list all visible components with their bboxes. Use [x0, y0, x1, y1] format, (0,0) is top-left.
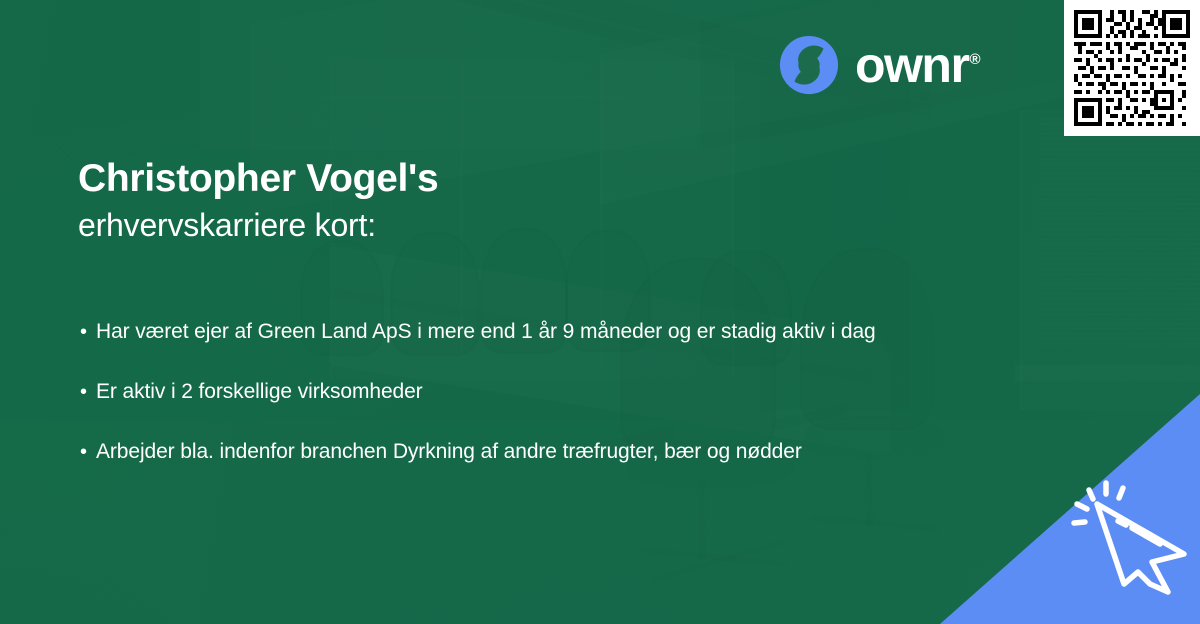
qr-code[interactable]	[1074, 10, 1190, 126]
person-name: Christopher Vogel's	[78, 156, 438, 202]
qr-code-panel[interactable]	[1064, 0, 1200, 136]
list-item-text: Er aktiv i 2 forskellige virksomheder	[96, 375, 423, 409]
brand-name: ownr	[855, 37, 968, 93]
list-item: • Har været ejer af Green Land ApS i mer…	[80, 315, 980, 349]
business-career-card: ownr®	[0, 0, 1200, 624]
career-facts-list: • Har været ejer af Green Land ApS i mer…	[80, 315, 980, 495]
subtitle: erhvervskarriere kort:	[78, 205, 438, 247]
registered-mark: ®	[969, 51, 980, 68]
ownr-swirl-logo-icon	[778, 34, 840, 96]
click-cursor-icon	[1066, 476, 1190, 596]
list-item-text: Har været ejer af Green Land ApS i mere …	[96, 315, 876, 349]
list-item-text: Arbejder bla. indenfor branchen Dyrkning…	[96, 435, 802, 469]
bullet-marker-icon: •	[80, 315, 96, 349]
brand-wordmark: ownr®	[855, 40, 981, 90]
bullet-marker-icon: •	[80, 435, 96, 469]
bullet-marker-icon: •	[80, 375, 96, 409]
list-item: • Er aktiv i 2 forskellige virksomheder	[80, 375, 980, 409]
list-item: • Arbejder bla. indenfor branchen Dyrkni…	[80, 435, 980, 469]
brand-logo: ownr®	[778, 34, 981, 96]
green-gradient-overlay	[0, 0, 1200, 624]
page-title: Christopher Vogel's erhvervskarriere kor…	[78, 156, 438, 247]
